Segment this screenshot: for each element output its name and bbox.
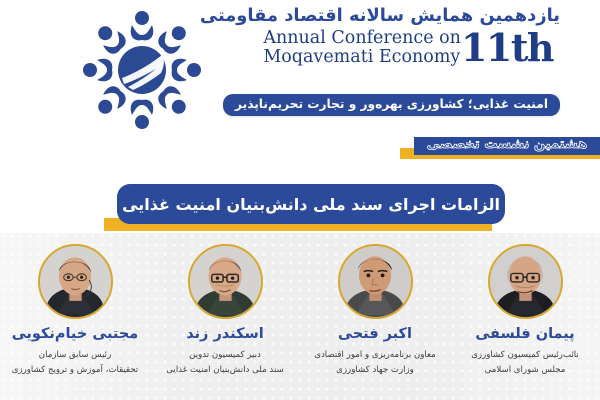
speaker-name: اکبر فتحی bbox=[338, 326, 412, 342]
edition-number: 11th bbox=[461, 31, 553, 66]
speaker-portrait-peyman-falsafi bbox=[488, 244, 563, 319]
conference-poster: یازدهمین همایش سالانه اقتصاد مقاومتی 11t… bbox=[0, 0, 600, 400]
speaker-role: دبیر کمیسیون تدوین سند ملی دانش‌بنیان ام… bbox=[166, 348, 283, 378]
speaker-role-line2: تحقیقات، آموزش و ترویج کشاورزی bbox=[12, 363, 139, 378]
speaker-role: رئیس سابق سازمان تحقیقات، آموزش و ترویج … bbox=[12, 348, 139, 378]
speaker-role-line1: معاون برنامه‌ریزی و امور اقتصادی bbox=[314, 348, 436, 363]
main-title-text: الزامات اجرای سند ملی دانش‌بنیان امنیت غ… bbox=[122, 195, 500, 214]
session-ribbon: هشتمین نشست تخصصی bbox=[400, 129, 600, 167]
speakers-grid: مجتبی خیام‌نکویی رئیس سابق سازمان تحقیقا… bbox=[0, 233, 600, 400]
conference-fa-title: یازدهمین همایش سالانه اقتصاد مقاومتی bbox=[205, 8, 560, 26]
speaker-portrait-eskandar-zand bbox=[188, 244, 263, 319]
title-block: یازدهمین همایش سالانه اقتصاد مقاومتی 11t… bbox=[212, 8, 560, 118]
main-title-pill: الزامات اجرای سند ملی دانش‌بنیان امنیت غ… bbox=[117, 184, 505, 224]
speaker-role-line1: دبیر کمیسیون تدوین bbox=[166, 348, 283, 363]
speaker-role-line1: رئیس سابق سازمان bbox=[12, 348, 139, 363]
speaker-role: معاون برنامه‌ریزی و امور اقتصادی وزارت ج… bbox=[314, 348, 436, 378]
speakers-panel: مجتبی خیام‌نکویی رئیس سابق سازمان تحقیقا… bbox=[0, 233, 600, 400]
poster-header: یازدهمین همایش سالانه اقتصاد مقاومتی 11t… bbox=[0, 0, 600, 178]
speaker-role-line2: سند ملی دانش‌بنیان امنیت غذایی bbox=[166, 363, 283, 378]
speaker-portrait-akbar-fathi bbox=[338, 244, 413, 319]
speaker-portrait-khayyam-nekouei bbox=[38, 244, 113, 319]
en-title-line2: Moqavemati Economy bbox=[263, 48, 461, 68]
speaker-card: پیمان فلسفی نائب‌رئیس کمیسیون کشاورزی مج… bbox=[450, 233, 600, 400]
en-title-lines: Annual Conference on Moqavemati Economy bbox=[263, 29, 461, 68]
conference-en-title: 11th Annual Conference on Moqavemati Eco… bbox=[212, 29, 560, 68]
speaker-name: اسکندر زند bbox=[186, 326, 264, 342]
conference-logo-globe-figures bbox=[78, 4, 206, 136]
speaker-name: پیمان فلسفی bbox=[475, 326, 574, 342]
speaker-role-line2: وزارت جهاد کشاورزی bbox=[314, 363, 436, 378]
subtitle-banner: امنیت غذایی؛ کشاورزی بهره‌ور و تجارت تحر… bbox=[223, 94, 560, 116]
speaker-card: اکبر فتحی معاون برنامه‌ریزی و امور اقتصا… bbox=[300, 233, 450, 400]
speaker-name: مجتبی خیام‌نکویی bbox=[12, 326, 139, 342]
session-ribbon-text: هشتمین نشست تخصصی bbox=[414, 133, 600, 155]
main-title-band: الزامات اجرای سند ملی دانش‌بنیان امنیت غ… bbox=[0, 178, 600, 240]
en-title-line1: Annual Conference on bbox=[263, 29, 461, 49]
speaker-card: مجتبی خیام‌نکویی رئیس سابق سازمان تحقیقا… bbox=[0, 233, 150, 400]
speaker-role-line2: مجلس شورای اسلامی bbox=[471, 363, 579, 378]
speaker-role-line1: نائب‌رئیس کمیسیون کشاورزی bbox=[471, 348, 579, 363]
speaker-role: نائب‌رئیس کمیسیون کشاورزی مجلس شورای اسل… bbox=[471, 348, 579, 378]
speaker-card: اسکندر زند دبیر کمیسیون تدوین سند ملی دا… bbox=[150, 233, 300, 400]
